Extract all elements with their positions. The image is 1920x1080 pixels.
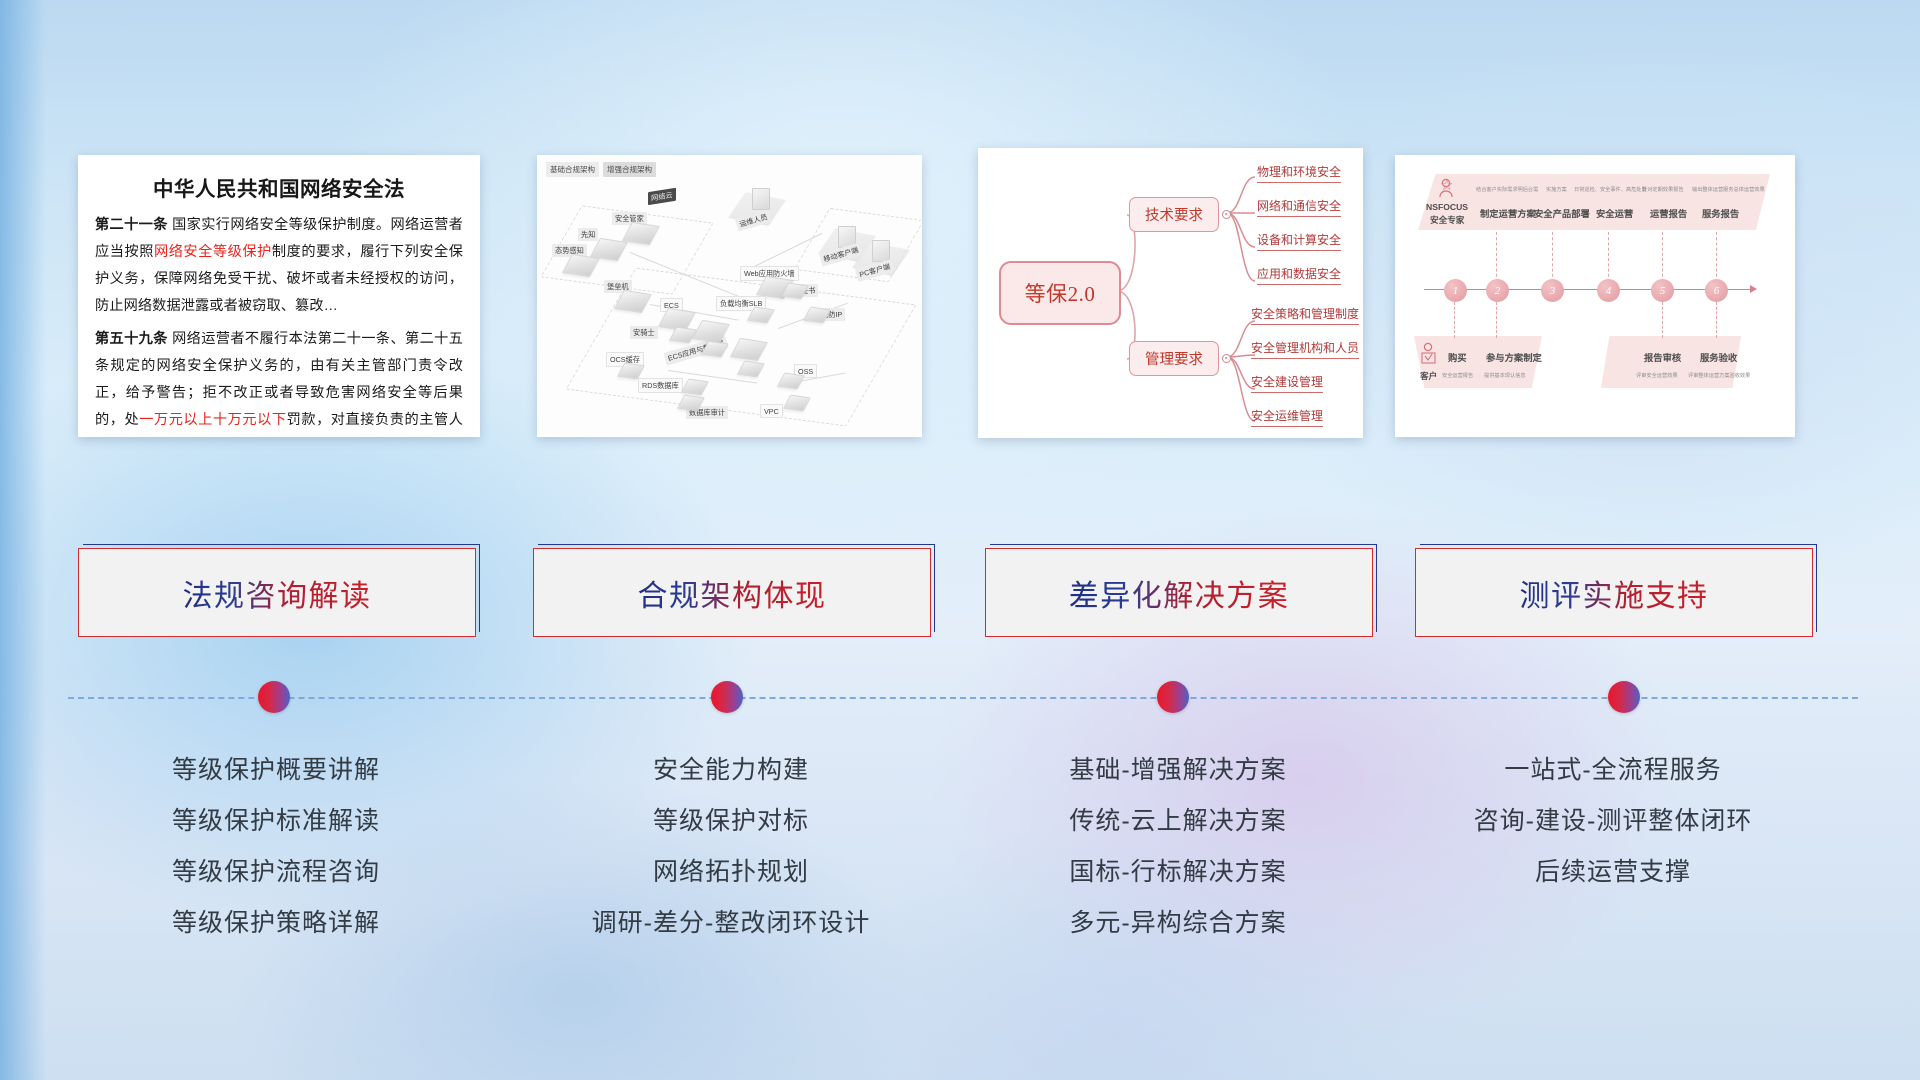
section-title-3: 差异化解决方案 (1069, 571, 1290, 615)
section-title-1: 法规咨询解读 (183, 571, 372, 615)
section-title-box-4[interactable]: 测评实施支持 (1415, 548, 1813, 637)
section-items-2: 安全能力构建 等级保护对标 网络拓扑规划 调研-差分-整改闭环设计 (533, 745, 929, 949)
section-item: 等级保护策略详解 (78, 898, 474, 949)
section-items-4: 一站式-全流程服务 咨询-建设-测评整体闭环 后续运营支撑 (1415, 745, 1811, 898)
section-item: 咨询-建设-测评整体闭环 (1415, 796, 1811, 847)
section-item: 基础-增强解决方案 (985, 745, 1371, 796)
section-items-1: 等级保护概要讲解 等级保护标准解读 等级保护流程咨询 等级保护策略详解 (78, 745, 474, 949)
section-items-3: 基础-增强解决方案 传统-云上解决方案 国标-行标解决方案 多元-异构综合方案 (985, 745, 1371, 949)
timeline-marker-dot-1 (258, 681, 290, 713)
section-item: 多元-异构综合方案 (985, 898, 1371, 949)
section-item: 等级保护标准解读 (78, 796, 474, 847)
section-title-box-2[interactable]: 合规架构体现 (533, 548, 931, 637)
section-item: 一站式-全流程服务 (1415, 745, 1811, 796)
section-title-box-3[interactable]: 差异化解决方案 (985, 548, 1373, 637)
timeline-marker-dot-2 (711, 681, 743, 713)
section-item: 安全能力构建 (533, 745, 929, 796)
timeline-dashed-rail (68, 697, 1858, 699)
section-item: 调研-差分-整改闭环设计 (533, 898, 929, 949)
section-title-4: 测评实施支持 (1520, 571, 1709, 615)
section-item: 国标-行标解决方案 (985, 847, 1371, 898)
timeline-marker-dot-3 (1157, 681, 1189, 713)
section-item: 网络拓扑规划 (533, 847, 929, 898)
section-item: 传统-云上解决方案 (985, 796, 1371, 847)
section-item: 等级保护概要讲解 (78, 745, 474, 796)
section-item: 等级保护流程咨询 (78, 847, 474, 898)
section-title-2: 合规架构体现 (638, 571, 827, 615)
section-item: 后续运营支撑 (1415, 847, 1811, 898)
section-item: 等级保护对标 (533, 796, 929, 847)
timeline-marker-dot-4 (1608, 681, 1640, 713)
section-title-box-1[interactable]: 法规咨询解读 (78, 548, 476, 637)
